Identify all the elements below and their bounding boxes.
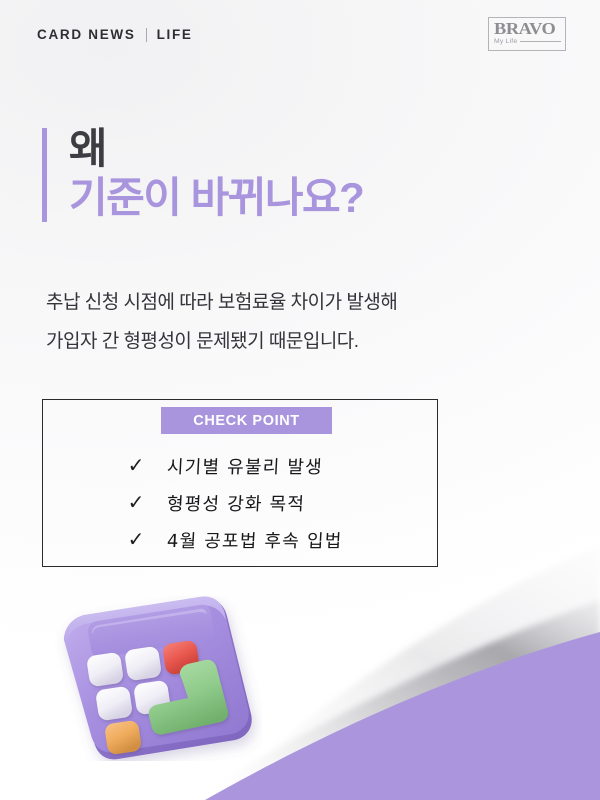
- breadcrumb: CARD NEWS LIFE: [37, 27, 193, 42]
- brand-logo-subrow: My Life: [494, 38, 561, 45]
- title-text-group: 왜 기준이 바뀌나요?: [47, 126, 363, 224]
- list-item: ✓ 형평성 강화 목적: [127, 490, 343, 516]
- breadcrumb-divider: [146, 28, 147, 42]
- check-icon: ✓: [127, 493, 145, 513]
- brand-logo-name: BRAVO: [494, 21, 566, 37]
- brand-logo: BRAVO My Life: [488, 17, 566, 51]
- calculator-illustration: [52, 596, 262, 766]
- list-item: ✓ 4월 공포법 후속 입법: [127, 527, 343, 553]
- body-copy-line-2: 가입자 간 형평성이 문제됐기 때문입니다.: [46, 322, 516, 361]
- brand-logo-rule: [520, 41, 561, 42]
- body-copy-line-1: 추납 신청 시점에 따라 보험료율 차이가 발생해: [46, 283, 516, 322]
- check-point-list: ✓ 시기별 유불리 발생 ✓ 형평성 강화 목적 ✓ 4월 공포법 후속 입법: [127, 453, 343, 553]
- brand-logo-tagline: My Life: [494, 38, 517, 45]
- check-icon: ✓: [127, 530, 145, 550]
- check-point-item-label: 형평성 강화 목적: [166, 490, 306, 516]
- title-line-1: 왜: [69, 126, 363, 172]
- check-point-item-label: 4월 공포법 후속 입법: [166, 527, 343, 553]
- check-icon: ✓: [127, 456, 145, 476]
- card-news-slide: CARD NEWS LIFE BRAVO My Life 왜 기준이 바뀌나요?…: [0, 0, 600, 800]
- check-point-item-label: 시기별 유불리 발생: [166, 453, 323, 479]
- check-point-badge: CHECK POINT: [161, 407, 332, 434]
- title-line-2: 기준이 바뀌나요?: [69, 172, 363, 224]
- key-orange: [104, 720, 142, 756]
- purple-wave: [205, 632, 600, 800]
- key-white-3: [95, 686, 133, 722]
- header: CARD NEWS LIFE BRAVO My Life: [0, 0, 600, 72]
- body-copy: 추납 신청 시점에 따라 보험료율 차이가 발생해 가입자 간 형평성이 문제됐…: [46, 283, 516, 361]
- page-title: 왜 기준이 바뀌나요?: [42, 126, 363, 224]
- key-white-1: [86, 652, 124, 688]
- breadcrumb-category: LIFE: [157, 27, 193, 42]
- breadcrumb-card-news: CARD NEWS: [37, 27, 136, 42]
- list-item: ✓ 시기별 유불리 발생: [127, 453, 343, 479]
- swoosh-light: [215, 545, 600, 800]
- check-point-box: CHECK POINT ✓ 시기별 유불리 발생 ✓ 형평성 강화 목적 ✓ 4…: [42, 399, 438, 567]
- key-white-2: [124, 646, 162, 682]
